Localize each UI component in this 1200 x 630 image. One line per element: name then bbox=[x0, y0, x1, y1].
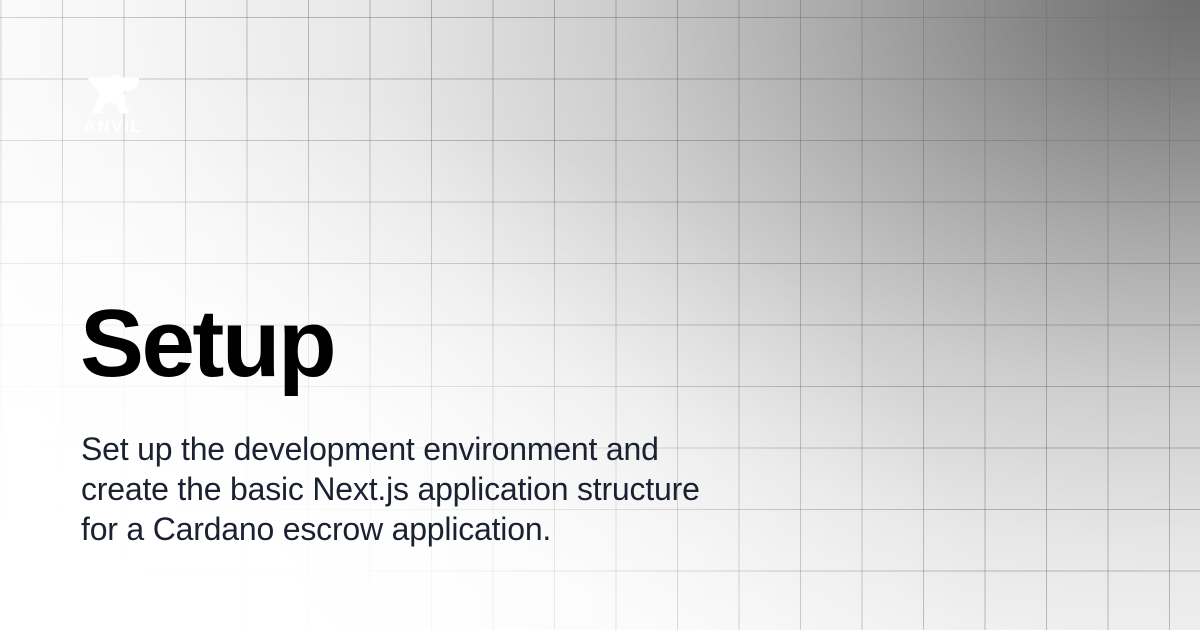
description-line-3: for a Cardano escrow application. bbox=[81, 509, 881, 549]
description-line-2: create the basic Next.js application str… bbox=[81, 469, 881, 509]
page-description: Set up the development environment and c… bbox=[81, 429, 881, 549]
description-line-1: Set up the development environment and bbox=[81, 429, 881, 469]
page-title: Setup bbox=[80, 296, 334, 392]
card-content: ANVIL Setup Set up the development envir… bbox=[0, 0, 1200, 630]
brand-wordmark: ANVIL bbox=[84, 118, 143, 135]
brand-logo: ANVIL bbox=[78, 74, 148, 135]
anvil-icon bbox=[87, 74, 139, 116]
og-card: ANVIL Setup Set up the development envir… bbox=[0, 0, 1200, 630]
